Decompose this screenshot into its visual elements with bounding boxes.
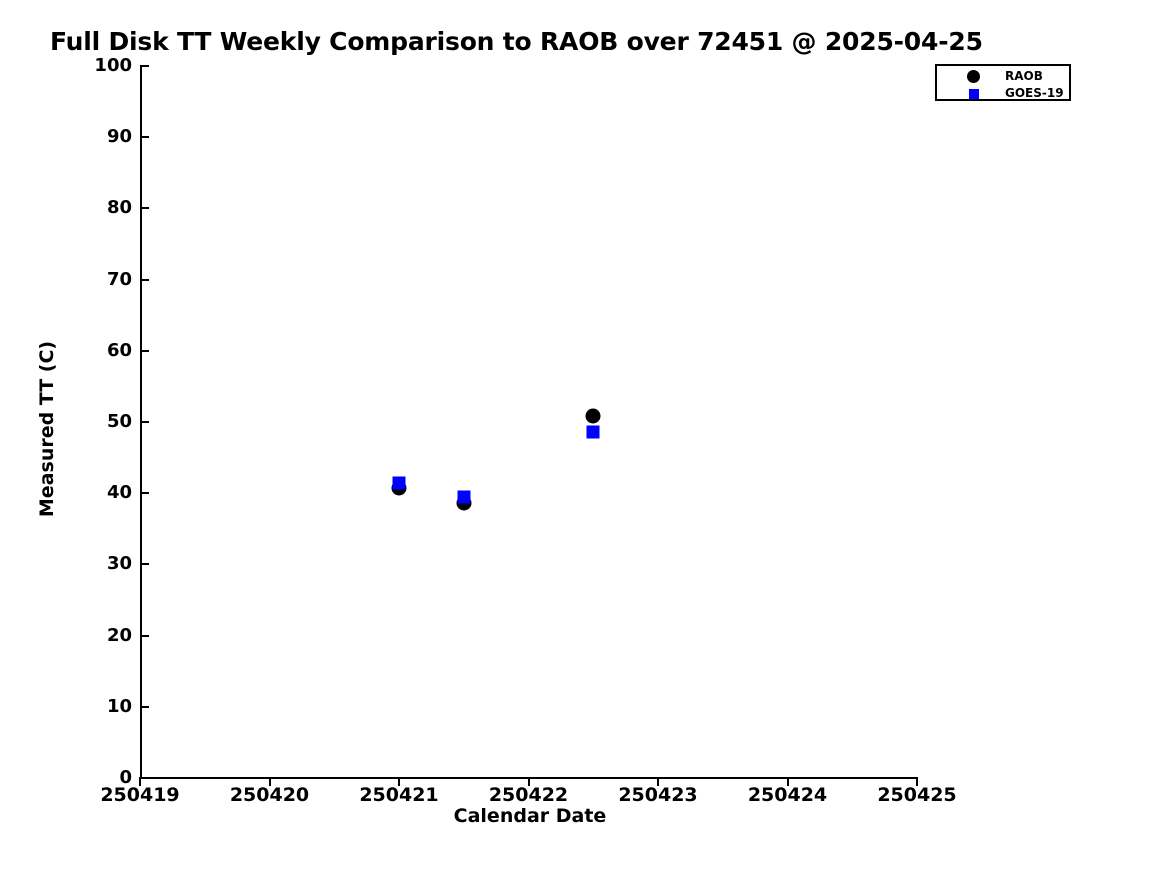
legend-label: GOES-19: [1005, 86, 1064, 100]
legend-symbol: [963, 68, 985, 85]
x-axis-label: Calendar Date: [0, 805, 1060, 827]
y-tick-label: 40: [70, 482, 132, 503]
x-tick-label: 250423: [618, 784, 697, 806]
chart-title: Full Disk TT Weekly Comparison to RAOB o…: [50, 27, 983, 56]
x-tick-label: 250420: [230, 784, 309, 806]
data-point-goes-19: [587, 425, 600, 438]
y-axis-label: Measured TT (C): [36, 129, 58, 729]
plot-area: [140, 66, 917, 778]
data-point-goes-19: [457, 491, 470, 504]
x-tick-label: 250419: [100, 784, 179, 806]
square-marker-icon: [969, 89, 979, 99]
legend-label: RAOB: [1005, 69, 1043, 83]
y-tick-label: 20: [70, 625, 132, 646]
x-tick-label: 250422: [489, 784, 568, 806]
y-tick-label: 50: [70, 411, 132, 432]
x-tick-label: 250425: [877, 784, 956, 806]
y-tick-label: 80: [70, 197, 132, 218]
y-tick-label: 30: [70, 553, 132, 574]
legend-entry: RAOB: [937, 68, 1069, 85]
legend-symbol: [963, 85, 985, 102]
circle-marker-icon: [967, 70, 980, 83]
legend-entry: GOES-19: [937, 85, 1069, 102]
x-tick-label: 250424: [748, 784, 827, 806]
y-tick-label: 70: [70, 269, 132, 290]
y-tick-label: 100: [70, 55, 132, 76]
x-tick-label: 250421: [359, 784, 438, 806]
y-tick-label: 60: [70, 340, 132, 361]
chart-legend: RAOBGOES-19: [935, 64, 1071, 101]
chart-figure: Full Disk TT Weekly Comparison to RAOB o…: [0, 0, 1167, 875]
data-point-goes-19: [393, 477, 406, 490]
data-point-raob: [586, 409, 601, 424]
y-tick-label: 10: [70, 696, 132, 717]
y-tick-label: 90: [70, 126, 132, 147]
